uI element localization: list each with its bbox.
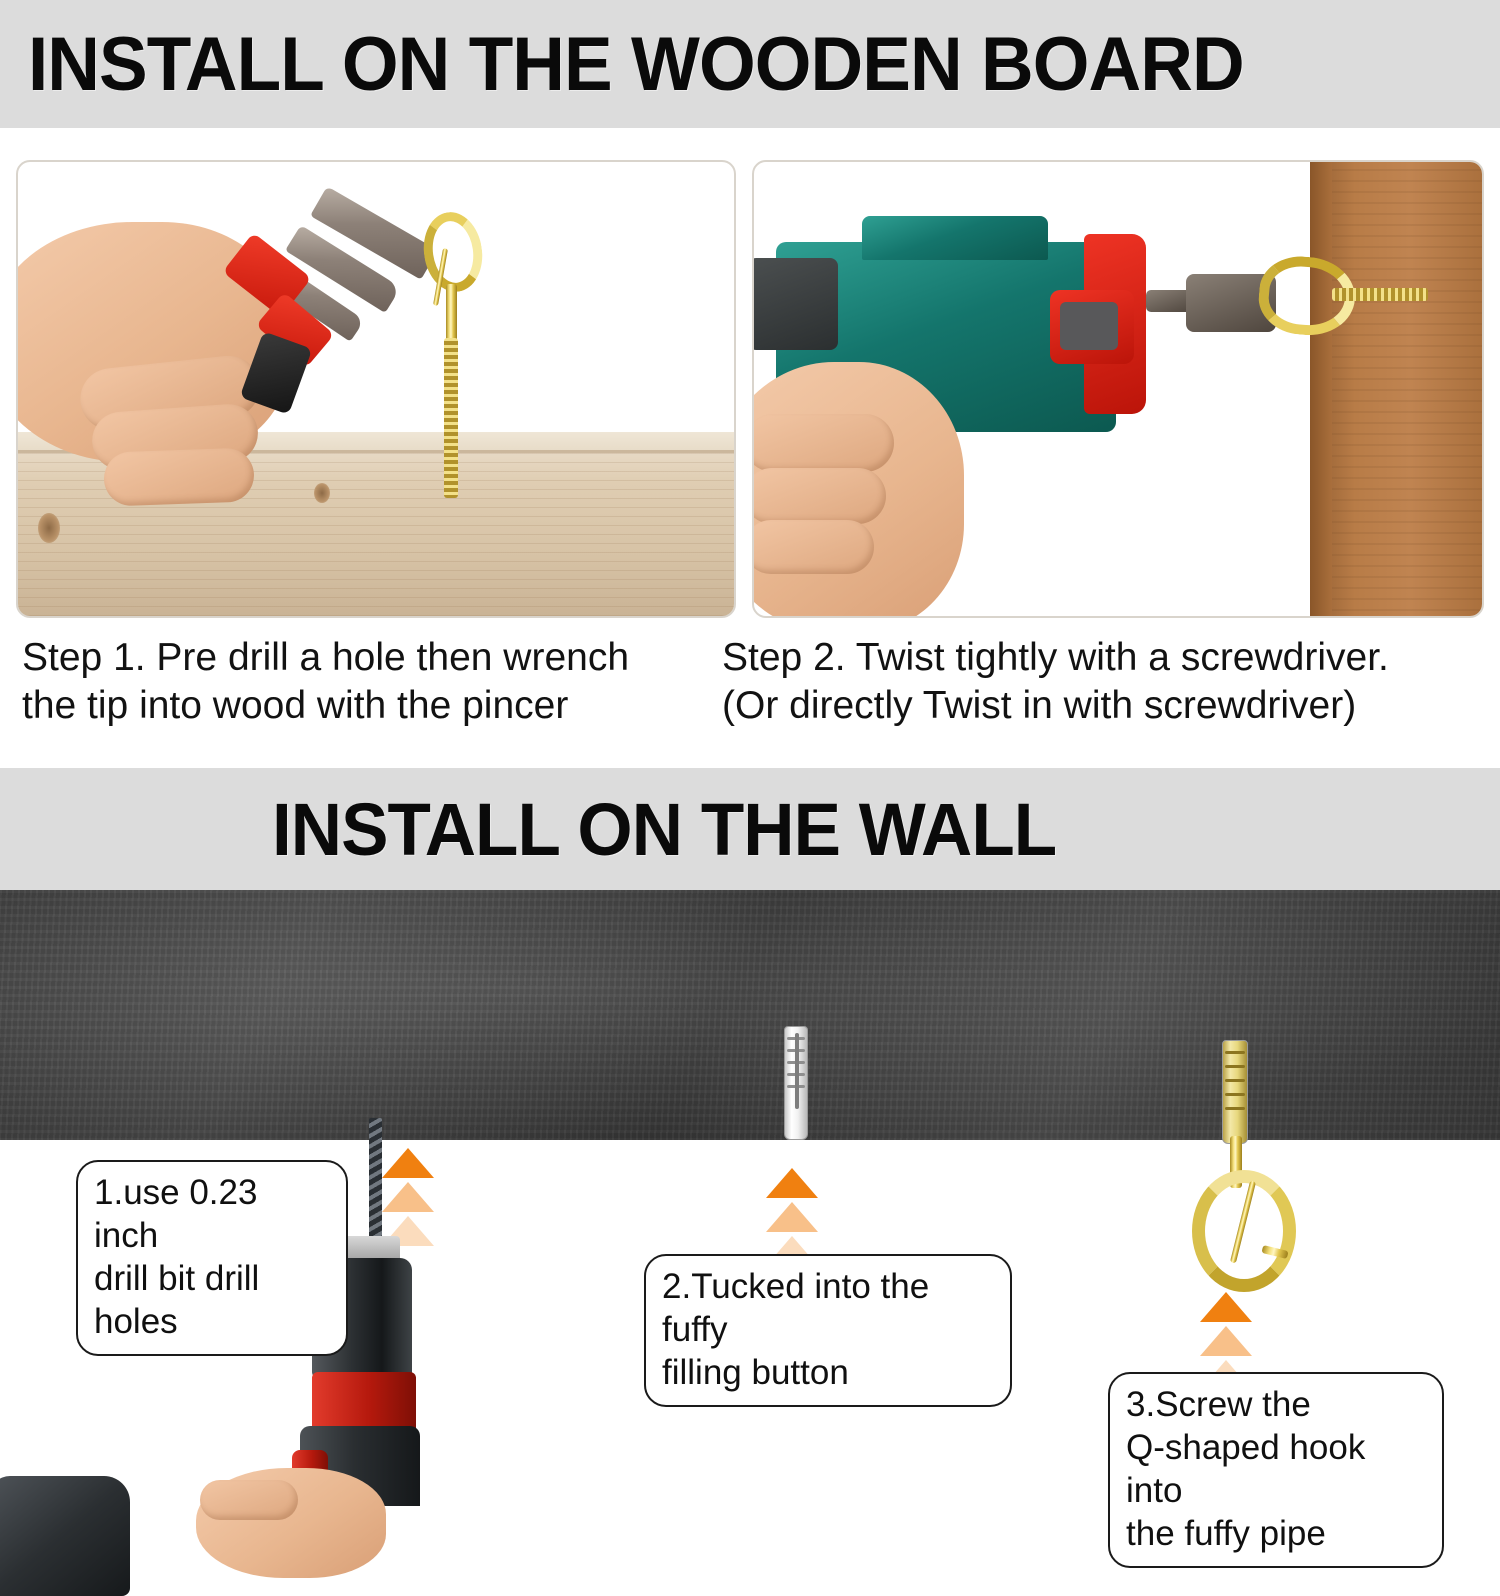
anchor-rib xyxy=(1225,1065,1245,1068)
hook-screw-thread xyxy=(444,338,458,498)
page-title-wall: INSTALL ON THE WALL xyxy=(272,787,1056,872)
hook-neck xyxy=(446,284,457,344)
drill-battery-pack xyxy=(0,1476,130,1596)
chevron-up-icon xyxy=(1200,1292,1252,1322)
anchor-rib xyxy=(1225,1079,1245,1082)
chevron-up-icon xyxy=(382,1148,434,1178)
step-1-caption: Step 1. Pre drill a hole then wrench the… xyxy=(22,634,722,730)
finger xyxy=(200,1480,298,1520)
hook-screw-thread xyxy=(1332,288,1428,301)
anchor-rib xyxy=(1225,1093,1245,1096)
step-1-photo xyxy=(16,160,736,618)
gold-q-hook-assembly xyxy=(1200,1040,1310,1310)
chevron-up-icon xyxy=(766,1168,818,1198)
anchor-rib xyxy=(1225,1051,1245,1054)
step-captions: Step 1. Pre drill a hole then wrench the… xyxy=(0,634,1500,766)
callout-3: 3.Screw the Q-shaped hook into the fuffy… xyxy=(1108,1372,1444,1568)
chevron-up-icon xyxy=(1200,1326,1252,1356)
banner-wall: INSTALL ON THE WALL xyxy=(0,768,1500,890)
anchor-slot xyxy=(795,1033,799,1109)
callout-1: 1.use 0.23 inch drill bit drill holes xyxy=(76,1160,348,1356)
wood-knot-icon xyxy=(314,483,330,503)
hook-loop xyxy=(419,208,488,295)
screwdriver-rear-cap xyxy=(752,258,838,350)
callout-2: 2.Tucked into the fuffy filling button xyxy=(644,1254,1012,1407)
anchor-rib xyxy=(1225,1107,1245,1110)
page-title-wooden-board: INSTALL ON THE WOODEN BOARD xyxy=(28,21,1244,108)
wood-knot-icon xyxy=(38,513,60,543)
gold-screw-hook xyxy=(416,208,488,508)
wall-anchor-plug xyxy=(784,1026,808,1140)
finger xyxy=(752,468,886,524)
drill-clutch-ring xyxy=(312,1372,416,1434)
wooden-board-photo-row xyxy=(0,160,1500,620)
step-2-caption: Step 2. Twist tightly with a screwdriver… xyxy=(722,634,1492,730)
step-2-photo xyxy=(752,160,1484,618)
wooden-post-edge xyxy=(1310,160,1332,618)
switch-face xyxy=(1060,302,1118,350)
hook-q-loop xyxy=(1192,1170,1296,1292)
masonry-drill-bit xyxy=(369,1118,382,1248)
chevron-up-icon xyxy=(382,1182,434,1212)
finger xyxy=(103,447,255,506)
finger xyxy=(752,520,874,574)
screwdriver-vent-ridges xyxy=(862,216,1048,260)
chevron-up-icon xyxy=(766,1202,818,1232)
finger xyxy=(752,414,894,472)
wooden-post xyxy=(1318,160,1484,618)
gold-screw-hook xyxy=(1266,238,1386,368)
banner-wooden-board: INSTALL ON THE WOODEN BOARD xyxy=(0,0,1500,128)
wall-anchor-plug xyxy=(1222,1040,1248,1144)
